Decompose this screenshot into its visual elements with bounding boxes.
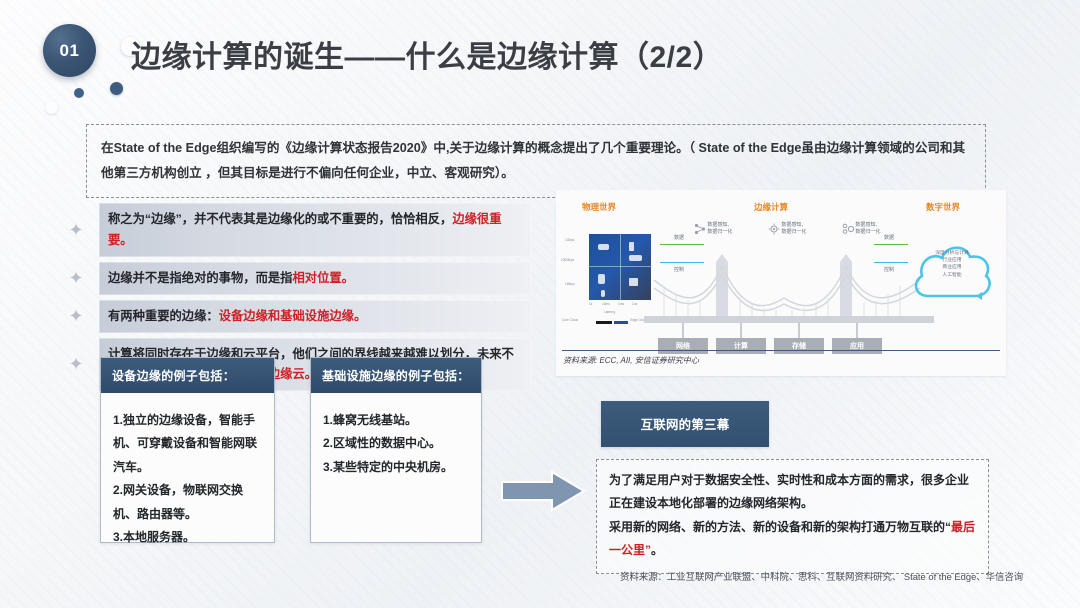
figure-mini-xtick: 10ms: [602, 302, 610, 306]
figure-label-digital-world: 数字世界: [926, 201, 960, 213]
figure-node-group-2: 数据感知、数据归一化: [768, 222, 806, 236]
card-title: 设备边缘的例子包括：: [101, 358, 274, 393]
bullet-row: ✦ 边缘并不是指绝对的事物，而是指相对位置。: [66, 262, 531, 295]
figure-flow-data-right: [874, 244, 908, 245]
figure-layer-stem: [798, 323, 800, 338]
device-edge-example-card: 设备边缘的例子包括： 1.独立的边缘设备，智能手机、可穿戴设备和智能网联汽车。 …: [100, 357, 275, 543]
bullet-text: 边缘并不是指绝对的事物，而是指: [108, 271, 292, 285]
bullet-highlight: 设备边缘和基础设施边缘。: [219, 309, 367, 323]
figure-label-physical-world: 物理世界: [582, 201, 616, 213]
card-title: 基础设施边缘的例子包括：: [311, 358, 481, 393]
intro-text-box: 在State of the Edge组织编写的《边缘计算状态报告2020》中,关…: [86, 124, 986, 198]
figure-layer-box-application: 应用: [832, 338, 882, 354]
figure-node-group-1: 数据感知、数据归一化: [694, 222, 732, 236]
footer-source: 资料来源：工业互联网产业联盟、中科院、思科、互联网资料研究、 State of …: [620, 570, 1024, 584]
figure-layer-box-network: 网络: [658, 338, 708, 354]
figure-bridge-deck: [644, 316, 934, 323]
third-act-paragraph-2: 采用新的网络、新的方法、新的设备和新的架构打通万物互联的“最后一公里”。: [609, 516, 976, 563]
figure-flow-label: 数据: [884, 234, 894, 241]
sparkle-icon: ✦: [67, 269, 85, 287]
third-act-text-box: 为了满足用户对于数据安全性、实时性和成本方面的需求，很多企业正在建设本地化部署的…: [596, 459, 989, 574]
bullet-text: 称之为“边缘”，并不代表其是边缘化的或不重要的，恰恰相反，: [108, 212, 452, 226]
figure-label-edge-computing: 边缘计算: [754, 201, 788, 213]
figure-mini-xtick: 1us: [632, 302, 637, 306]
card-body: 1.独立的边缘设备，智能手机、可穿戴设备和智能网联汽车。 2.网关设备，物联网交…: [101, 393, 274, 561]
figure-source: 资料来源: ECC, AII, 安信证券研究中心: [563, 355, 699, 366]
figure-mini-ytick: 1Mbps: [565, 282, 575, 286]
figure-flow-label: 数据: [674, 234, 684, 241]
bullet-text: 有两种重要的边缘：: [108, 309, 219, 323]
figure-flow-data-left: [660, 244, 704, 245]
card-list-item: 3.本地服务器。: [113, 526, 262, 549]
page-title: 边缘计算的诞生——什么是边缘计算（2/2）: [131, 32, 723, 76]
figure-mini-legend-swatch-edge: [614, 321, 628, 324]
card-list-item: 2.网关设备，物联网交换机、路由器等。: [113, 479, 262, 526]
figure-mini-axis-label: Latency: [604, 310, 615, 314]
card-body: 1.蜂窝无线基站。 2.区域性的数据中心。 3.某些特定的中央机房。: [311, 393, 481, 491]
bullet-row: ✦ 称之为“边缘”，并不代表其是边缘化的或不重要的，恰恰相反，边缘很重要。: [66, 203, 531, 257]
figure-layer-box-compute: 计算: [716, 338, 766, 354]
third-act-heading: 互联网的第三幕: [601, 401, 769, 447]
figure-mini-ytick: 1Gbps: [565, 238, 574, 242]
card-list-item: 1.独立的边缘设备，智能手机、可穿戴设备和智能网联汽车。: [113, 409, 262, 479]
card-list-item: 1.蜂窝无线基站。: [323, 409, 469, 432]
sparkle-icon: ✦: [67, 307, 85, 325]
bullet-row: ✦ 有两种重要的边缘：设备边缘和基础设施边缘。: [66, 300, 531, 333]
figure-mini-xtick: 1ms: [618, 302, 624, 306]
figure-cloud-text: 深度分析与计算行业应用商业应用人工智能: [924, 250, 980, 279]
bullet-highlight: 相对位置。: [292, 271, 354, 285]
section-number-badge: 01: [43, 24, 96, 77]
figure-mini-legend-swatch-core: [596, 321, 612, 324]
decorative-dot-blue-medium: [110, 82, 123, 95]
section-number-label: 01: [60, 41, 80, 61]
figure-layer-box-storage: 存储: [774, 338, 824, 354]
edge-computing-diagram: 物理世界 边缘计算 数字世界 1Gbps 100Mbps 1Mbps 1s 10…: [556, 190, 1006, 376]
figure-mini-xtick: 1s: [589, 302, 592, 306]
third-act-heading-label: 互联网的第三幕: [641, 415, 730, 433]
card-list-item: 3.某些特定的中央机房。: [323, 456, 469, 479]
decorative-dot-blue-small: [74, 88, 84, 98]
figure-layer-stem: [740, 323, 742, 338]
intro-text: 在State of the Edge组织编写的《边缘计算状态报告2020》中,关…: [101, 141, 965, 180]
figure-mini-ytick: 100Mbps: [561, 258, 574, 262]
figure-device-panel: [589, 234, 651, 300]
decorative-dot-white-small: [45, 101, 58, 114]
sparkle-icon: ✦: [67, 221, 85, 239]
figure-layer-stem: [856, 323, 858, 338]
infrastructure-edge-example-card: 基础设施边缘的例子包括： 1.蜂窝无线基站。 2.区域性的数据中心。 3.某些特…: [310, 357, 482, 543]
figure-node-group-3: 数据感知、数据归一化: [842, 222, 880, 236]
figure-source-divider: [562, 350, 1000, 351]
bullet-bar: 称之为“边缘”，并不代表其是边缘化的或不重要的，恰恰相反，边缘很重要。: [99, 203, 531, 257]
sparkle-icon: ✦: [67, 355, 85, 373]
third-act-paragraph-1: 为了满足用户对于数据安全性、实时性和成本方面的需求，很多企业正在建设本地化部署的…: [609, 469, 976, 516]
third-act-paragraph-2-text: 采用新的网络、新的方法、新的设备和新的架构打通万物互联的“: [609, 520, 951, 534]
right-arrow-icon: [500, 470, 586, 512]
third-act-paragraph-2-tail: 。: [651, 543, 663, 557]
bullet-bar: 边缘并不是指绝对的事物，而是指相对位置。: [99, 262, 531, 295]
bullet-bar: 有两种重要的边缘：设备边缘和基础设施边缘。: [99, 300, 531, 333]
figure-mini-legend-core: Core Cloud: [562, 318, 578, 322]
figure-layer-stem: [682, 323, 684, 338]
card-list-item: 2.区域性的数据中心。: [323, 432, 469, 455]
